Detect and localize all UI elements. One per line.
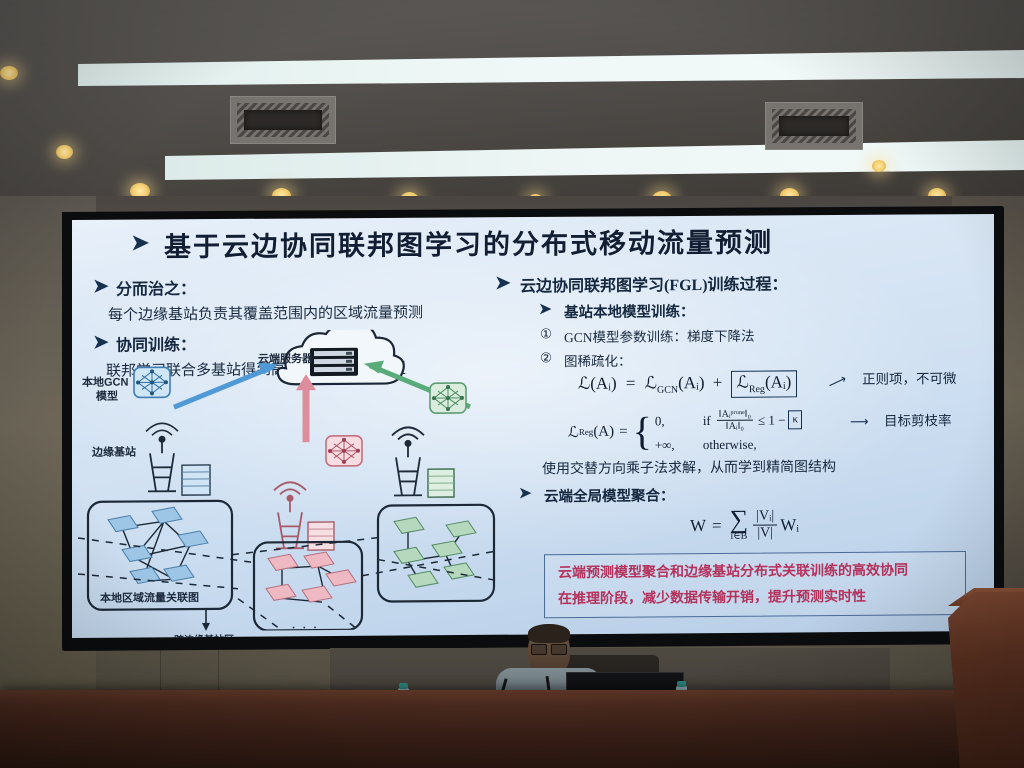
formula1-term1: ℒ bbox=[645, 373, 657, 392]
local-graph-left bbox=[108, 507, 208, 584]
kappa-box: κ bbox=[788, 410, 802, 429]
diagram-ellipsis: · · · bbox=[292, 622, 319, 634]
right-item1-num: ① bbox=[540, 326, 552, 342]
bullet-arrow-icon: ➤ bbox=[130, 231, 150, 255]
formula1-lhs: ℒ(Aᵢ) bbox=[578, 374, 617, 393]
glasses-icon bbox=[531, 644, 567, 653]
right-heading: 云边协同联邦图学习(FGL)训练过程： bbox=[520, 270, 788, 296]
formula3-sigma: ∑ bbox=[730, 509, 749, 531]
formula3-tail: Wᵢ bbox=[780, 515, 799, 535]
formula3-lhs: W bbox=[690, 516, 706, 536]
gcn-model-chip-green bbox=[430, 383, 466, 413]
formula1-term1-arg: (Aᵢ) bbox=[678, 373, 704, 392]
local-graph-label: 本地区域流量关联图 bbox=[100, 589, 199, 606]
local-graph-mid bbox=[266, 552, 356, 603]
case1-if: if bbox=[703, 412, 711, 429]
projection-screen: ➤ 基于云边协同联邦图学习的分布式移动流量预测 ➤ 分而治之： 每个边缘基站负责… bbox=[72, 214, 994, 638]
edge-station-label: 边缘基站 bbox=[92, 443, 136, 459]
summation-symbol: ∑ i∈B bbox=[730, 509, 749, 542]
annotation-regularizer: 正则项，不可微 bbox=[862, 367, 957, 388]
base-station-tower-mid bbox=[274, 482, 306, 548]
formula2-eq: = bbox=[619, 423, 627, 440]
local-graph-right bbox=[394, 517, 476, 588]
building-left bbox=[182, 465, 210, 495]
formula1-eq: = bbox=[626, 374, 636, 393]
case1-frac-den: ‖Aᵢ‖₀ bbox=[726, 421, 744, 432]
slide-title: 基于云边协同联邦图学习的分布式移动流量预测 bbox=[164, 220, 773, 264]
formula1-boxed-sub: Reg bbox=[749, 384, 765, 395]
formula1-term1-sub: GCN bbox=[657, 385, 678, 396]
cloud-server-label: 云端服务器 bbox=[258, 350, 313, 366]
conference-room-photo: ➤ 基于云边协同联邦图学习的分布式移动流量预测 ➤ 分而治之： 每个边缘基站负责… bbox=[0, 0, 1024, 768]
ac-vent-right bbox=[765, 102, 863, 150]
formula1-boxed: ℒ bbox=[737, 373, 749, 392]
annotation-arrow-icon: ⟶ bbox=[850, 414, 869, 430]
cross-region-arrow bbox=[202, 609, 210, 631]
formula-reg-cases: ℒReg(A) = { 0, if ‖Aᵢᵖʳᵘⁿᵉ‖₀ ‖Aᵢ‖₀ ≤ 1 − bbox=[568, 408, 802, 454]
bullet-arrow-icon: ➤ bbox=[538, 300, 552, 317]
building-mid bbox=[308, 522, 334, 550]
presenter-hair bbox=[528, 624, 570, 643]
case2-cond: otherwise, bbox=[703, 436, 757, 453]
case1-fraction: ‖Aᵢᵖʳᵘⁿᵉ‖₀ ‖Aᵢ‖₀ bbox=[717, 409, 753, 432]
left-section1-heading: 分而治之： bbox=[116, 275, 196, 300]
right-sub1: 基站本地模型训练： bbox=[564, 300, 695, 322]
right-item1: GCN模型参数训练：梯度下降法 bbox=[564, 325, 755, 346]
presentation-slide: ➤ 基于云边协同联邦图学习的分布式移动流量预测 ➤ 分而治之： 每个边缘基站负责… bbox=[72, 214, 994, 638]
bullet-arrow-icon: ➤ bbox=[518, 484, 532, 501]
formula3-frac-num: |Vᵢ| bbox=[753, 508, 777, 525]
downlight bbox=[0, 66, 18, 80]
formula2-lhs: ℒ bbox=[568, 423, 579, 442]
bullet-arrow-icon: ➤ bbox=[494, 273, 512, 294]
ac-vent-left bbox=[230, 96, 336, 144]
formula3-eq: = bbox=[712, 515, 722, 535]
formula1-boxed-arg: (Aᵢ) bbox=[765, 372, 791, 391]
base-station-tower-right bbox=[392, 427, 424, 495]
formula2-lhs-arg: (A) bbox=[593, 423, 614, 440]
case1-relation: ≤ 1 − bbox=[758, 411, 785, 428]
base-station-tower-left bbox=[146, 423, 178, 491]
conclusion-line-2: 在推理阶段，减少数据传输开销，提升预测实时性 bbox=[558, 586, 866, 608]
right-item2-num: ② bbox=[540, 350, 552, 366]
ceiling bbox=[0, 0, 1024, 215]
formula2-lhs-sub: Reg bbox=[579, 427, 594, 437]
formula1-boxed-reg-term: ℒReg(Aᵢ) bbox=[731, 370, 798, 398]
cases-group: { 0, if ‖Aᵢᵖʳᵘⁿᵉ‖₀ ‖Aᵢ‖₀ ≤ 1 − κ bbox=[633, 408, 802, 453]
formula3-sum-sub: i∈B bbox=[730, 531, 747, 542]
case-brace: { bbox=[633, 416, 652, 446]
conclusion-line-1: 云端预测模型聚合和边缘基站分布式关联训练的高效协同 bbox=[558, 559, 908, 582]
right-sub2: 云端全局模型聚合： bbox=[544, 484, 675, 506]
podium bbox=[948, 592, 1024, 768]
case2-value: +∞, bbox=[655, 436, 703, 453]
left-section1-text: 每个边缘基站负责其覆盖范围内的区域流量预测 bbox=[108, 301, 423, 324]
case1-value: 0, bbox=[655, 412, 703, 429]
downlight bbox=[872, 160, 886, 172]
solver-text: 使用交替方向乘子法求解，从而学到精简图结构 bbox=[542, 456, 836, 478]
architecture-diagram: 云端服务器 本地GCN 模型 边缘基站 本地区域流量关联图 跨边缘基站区 域流量… bbox=[78, 329, 498, 632]
gcn-model-chip-blue bbox=[134, 367, 170, 397]
downlight bbox=[56, 145, 73, 159]
annotation-prune-rate: 目标剪枝率 bbox=[884, 409, 952, 430]
formula-loss-total: ℒ(Aᵢ) = ℒGCN(Aᵢ) + ℒReg(Aᵢ) bbox=[578, 370, 797, 399]
local-gcn-label-2: 模型 bbox=[96, 388, 118, 404]
formula3-fraction: |Vᵢ| |V| bbox=[753, 508, 777, 541]
presenter-desk bbox=[0, 690, 1024, 768]
gcn-model-chip-red bbox=[326, 436, 362, 466]
right-item2: 图稀疏化： bbox=[564, 350, 632, 371]
upload-arrow-blue bbox=[174, 362, 278, 407]
formula-global-aggregation: W = ∑ i∈B |Vᵢ| |V| Wᵢ bbox=[690, 508, 799, 542]
case1-frac-num: ‖Aᵢᵖʳᵘⁿᵉ‖₀ bbox=[717, 409, 753, 421]
annotation-arrow-icon: ⟶ bbox=[825, 371, 849, 393]
formula3-frac-den: |V| bbox=[757, 525, 773, 541]
formula1-plus: + bbox=[713, 373, 723, 392]
building-right bbox=[428, 469, 454, 497]
bullet-arrow-icon: ➤ bbox=[92, 276, 110, 297]
